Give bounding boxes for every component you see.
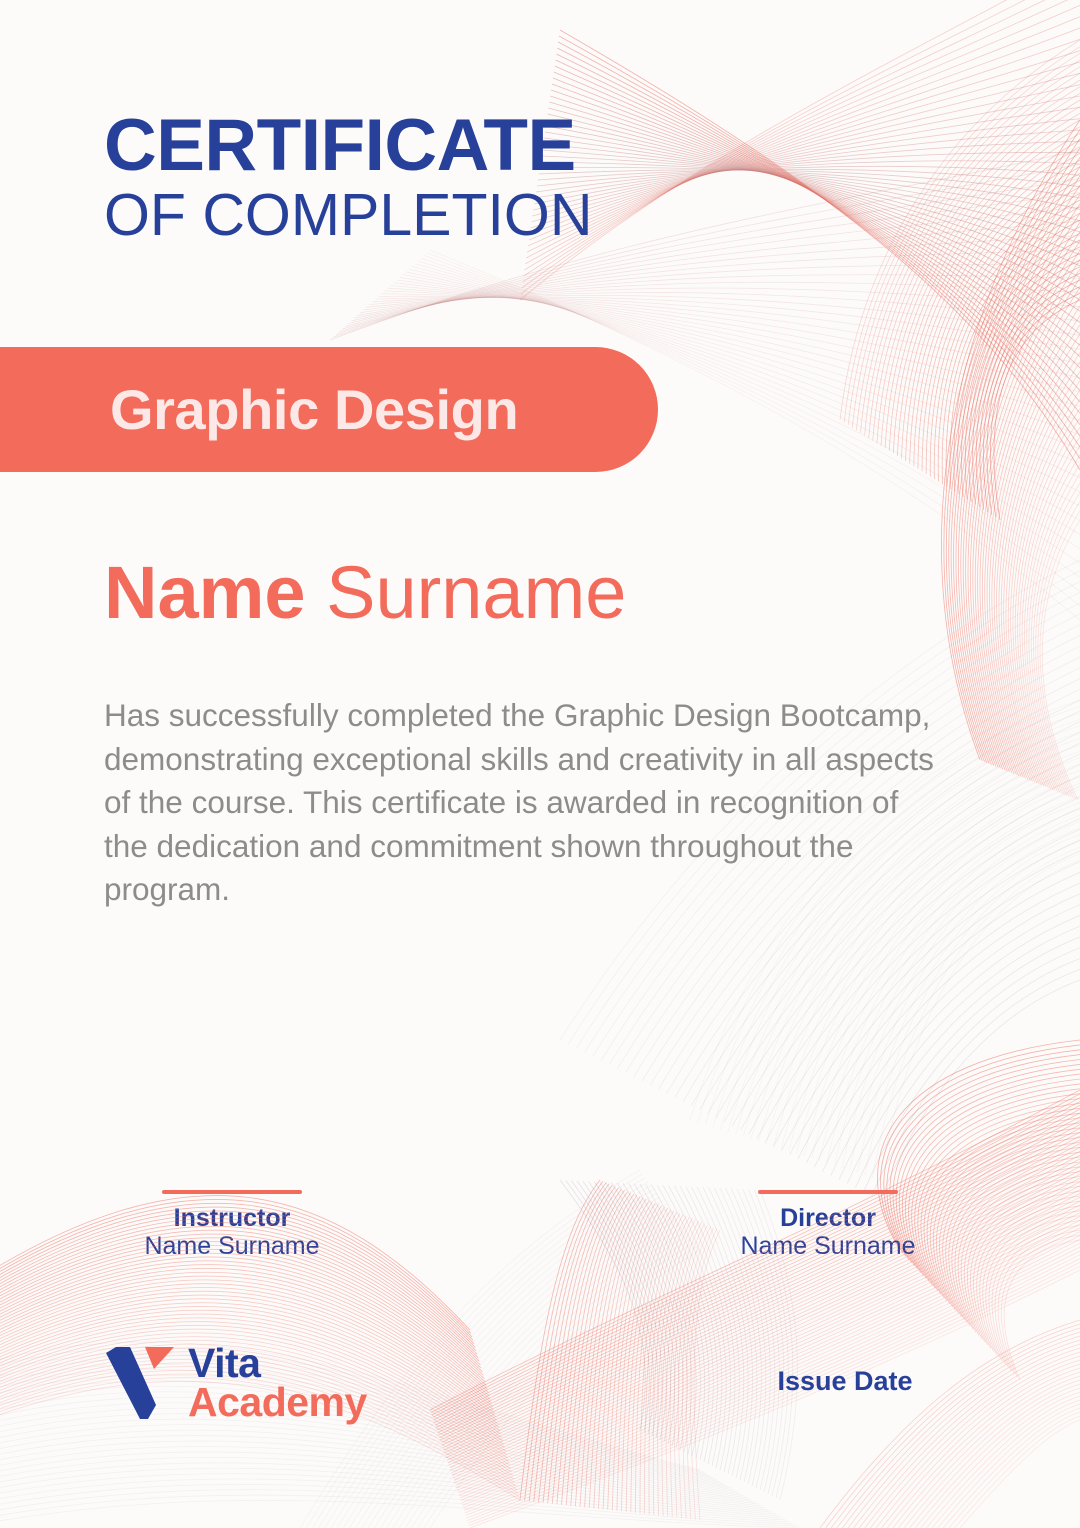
signature-name-instructor: Name Surname <box>104 1232 360 1260</box>
v-chevron-logo-icon <box>104 1345 176 1421</box>
page-title: CERTIFICATE OF COMPLETION <box>104 112 592 247</box>
signature-rule <box>758 1190 898 1194</box>
recipient-name: Name Surname <box>104 556 626 630</box>
signature-name-director: Name Surname <box>700 1232 956 1260</box>
signature-block-director: Director Name Surname <box>700 1190 956 1260</box>
signature-block-instructor: Instructor Name Surname <box>104 1190 360 1260</box>
brand-logo: Vita Academy <box>104 1344 367 1423</box>
certificate-body-text: Has successfully completed the Graphic D… <box>104 694 944 912</box>
recipient-last-name: Surname <box>326 551 626 634</box>
signature-role-director: Director <box>700 1204 956 1232</box>
signature-rule <box>162 1190 302 1194</box>
certificate-title-main: CERTIFICATE <box>104 112 592 179</box>
brand-logo-wordmark: Vita Academy <box>188 1344 367 1423</box>
brand-name-line1: Vita <box>188 1344 367 1383</box>
brand-name-line2: Academy <box>188 1383 367 1422</box>
certificate-page: CERTIFICATE OF COMPLETION Name Surname H… <box>0 0 1080 1528</box>
course-name: Graphic Design <box>110 377 518 442</box>
issue-date-label: Issue Date <box>700 1366 990 1397</box>
certificate-title-sub: OF COMPLETION <box>104 185 592 247</box>
recipient-first-name: Name <box>104 551 306 634</box>
course-banner: Graphic Design <box>0 347 658 472</box>
signature-role-instructor: Instructor <box>104 1204 360 1232</box>
